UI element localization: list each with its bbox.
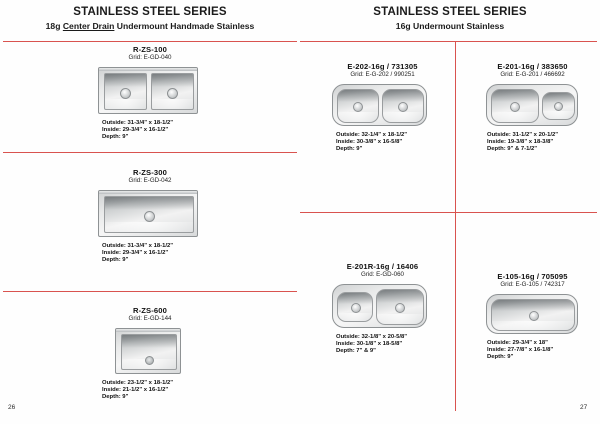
- drain-icon: [145, 356, 154, 365]
- spec-outside: Outside: 31-3/4" x 18-1/2": [102, 120, 240, 127]
- spec-depth: Depth: 7" & 9": [336, 348, 455, 355]
- sink-rim: [99, 68, 197, 71]
- sink-basin-right: [382, 89, 424, 123]
- product-label-block: R-ZS-600 Grid: E-GD-144: [60, 306, 240, 323]
- spec-outside: Outside: 23-1/2" x 18-1/2": [102, 380, 240, 387]
- spec-outside: Outside: 29-3/4" x 18": [487, 340, 600, 347]
- drain-icon: [529, 311, 539, 321]
- sink-double-bowl-round: [332, 84, 427, 126]
- product-name: R-ZS-600: [60, 306, 240, 315]
- product-grid-code: Grid: E-G-202 / 990251: [310, 71, 455, 79]
- product-grid-code: Grid: E-G-105 / 742317: [465, 281, 600, 289]
- product-image: [486, 84, 600, 126]
- product-image: [98, 190, 240, 237]
- product-label-block: E-201-16g / 383650 Grid: E-G-201 / 46669…: [465, 62, 600, 79]
- sink-double-bowl-square: [98, 67, 198, 114]
- drain-icon: [395, 303, 405, 313]
- product-card-r-zs-100[interactable]: R-ZS-100 Grid: E-GD-040 Outside: 31-3/4"…: [60, 45, 240, 142]
- product-image: [98, 67, 240, 114]
- product-grid-code: Grid: E-GD-042: [60, 177, 240, 185]
- left-divider-2: [3, 291, 297, 292]
- right-series-subtitle: 16g Undermount Stainless: [300, 20, 600, 32]
- catalog-page-spread: STAINLESS STEEL SERIES 18g Center Drain …: [0, 0, 600, 424]
- product-grid-code: Grid: E-G-201 / 466692: [465, 71, 600, 79]
- product-label-block: E-202-16g / 731305 Grid: E-G-202 / 99025…: [310, 62, 455, 79]
- left-series-subtitle-suffix: Undermount Handmade Stainless: [114, 21, 254, 31]
- left-series-subtitle-underlined: Center Drain: [63, 21, 115, 31]
- product-specs: Outside: 29-3/4" x 18" Inside: 27-7/8" x…: [487, 340, 600, 362]
- left-page-header: STAINLESS STEEL SERIES 18g Center Drain …: [0, 6, 300, 32]
- product-card-e-201-16g[interactable]: E-201-16g / 383650 Grid: E-G-201 / 46669…: [465, 62, 600, 154]
- product-grid-code: Grid: E-GD-040: [60, 54, 240, 62]
- spec-depth: Depth: 9": [487, 354, 600, 361]
- sink-basin-single: [121, 334, 177, 370]
- product-name: E-202-16g / 731305: [310, 62, 455, 71]
- drain-icon: [554, 102, 563, 111]
- spec-inside: Inside: 27-7/8" x 16-1/8": [487, 347, 600, 354]
- sink-basin-large: [376, 289, 424, 325]
- product-grid-code: Grid: E-GD-144: [60, 315, 240, 323]
- sink-basin-large: [491, 89, 539, 123]
- product-card-e-202-16g[interactable]: E-202-16g / 731305 Grid: E-G-202 / 99025…: [310, 62, 455, 154]
- product-specs: Outside: 31-3/4" x 18-1/2" Inside: 29-3/…: [102, 243, 240, 265]
- drain-icon: [353, 102, 363, 112]
- product-specs: Outside: 23-1/2" x 18-1/2" Inside: 21-1/…: [102, 380, 240, 402]
- product-label-block: R-ZS-100 Grid: E-GD-040: [60, 45, 240, 62]
- sink-single-bowl-round: [486, 294, 578, 334]
- sink-basin-small: [337, 292, 373, 322]
- sink-double-bowl-reverse: [332, 284, 427, 328]
- left-divider-1: [3, 152, 297, 153]
- spec-inside: Inside: 19-3/8" x 18-3/8": [487, 139, 600, 146]
- sink-rim: [116, 329, 180, 332]
- drain-icon: [351, 303, 361, 313]
- product-specs: Outside: 31-3/4" x 18-1/2" Inside: 29-3/…: [102, 120, 240, 142]
- spec-outside: Outside: 32-1/4" x 18-1/2": [336, 132, 455, 139]
- product-card-e-105-16g[interactable]: E-105-16g / 705095 Grid: E-G-105 / 74231…: [465, 272, 600, 362]
- product-name: E-201R-16g / 16406: [310, 262, 455, 271]
- product-label-block: E-201R-16g / 16406 Grid: E-GD-060: [310, 262, 455, 279]
- sink-rim: [99, 191, 197, 194]
- product-name: E-105-16g / 705095: [465, 272, 600, 281]
- left-series-subtitle-prefix: 18g: [46, 21, 63, 31]
- sink-single-bowl-compact: [115, 328, 181, 374]
- product-image: [332, 284, 455, 328]
- drain-icon: [120, 88, 131, 99]
- spec-inside: Inside: 29-3/4" x 16-1/2": [102, 127, 240, 134]
- sink-basin-small: [542, 92, 575, 120]
- product-name: E-201-16g / 383650: [465, 62, 600, 71]
- spec-depth: Depth: 9": [102, 134, 240, 141]
- product-label-block: R-ZS-300 Grid: E-GD-042: [60, 168, 240, 185]
- product-name: R-ZS-300: [60, 168, 240, 177]
- product-grid-code: Grid: E-GD-060: [310, 271, 455, 279]
- page-number-right: 27: [580, 404, 587, 411]
- header-rule-right: [300, 41, 597, 42]
- sink-basin-left: [337, 89, 379, 123]
- spec-depth: Depth: 9": [102, 257, 240, 264]
- spec-outside: Outside: 31-1/2" x 20-1/2": [487, 132, 600, 139]
- right-page-header: STAINLESS STEEL SERIES 16g Undermount St…: [300, 6, 600, 32]
- product-specs: Outside: 32-1/8" x 20-5/8" Inside: 30-1/…: [336, 334, 455, 356]
- left-series-title: STAINLESS STEEL SERIES: [0, 6, 300, 19]
- spec-depth: Depth: 9": [336, 146, 455, 153]
- sink-basin-single: [491, 299, 575, 331]
- right-divider-horizontal: [300, 212, 597, 213]
- product-image: [332, 84, 455, 126]
- drain-icon: [144, 211, 155, 222]
- product-specs: Outside: 31-1/2" x 20-1/2" Inside: 19-3/…: [487, 132, 600, 154]
- drain-icon: [510, 102, 520, 112]
- sink-basin-right: [151, 73, 194, 110]
- product-card-r-zs-300[interactable]: R-ZS-300 Grid: E-GD-042 Outside: 31-3/4"…: [60, 168, 240, 265]
- spec-inside: Inside: 29-3/4" x 16-1/2": [102, 250, 240, 257]
- sink-basin-left: [104, 73, 147, 110]
- sink-double-bowl-offset: [486, 84, 578, 126]
- page-number-left: 26: [8, 404, 15, 411]
- product-card-r-zs-600[interactable]: R-ZS-600 Grid: E-GD-144 Outside: 23-1/2"…: [60, 306, 240, 402]
- spec-outside: Outside: 32-1/8" x 20-5/8": [336, 334, 455, 341]
- product-image: [486, 294, 600, 334]
- drain-icon: [398, 102, 408, 112]
- right-divider-vertical: [455, 41, 456, 411]
- spec-outside: Outside: 31-3/4" x 18-1/2": [102, 243, 240, 250]
- product-label-block: E-105-16g / 705095 Grid: E-G-105 / 74231…: [465, 272, 600, 289]
- right-series-title: STAINLESS STEEL SERIES: [300, 6, 600, 19]
- product-name: R-ZS-100: [60, 45, 240, 54]
- drain-icon: [167, 88, 178, 99]
- left-series-subtitle: 18g Center Drain Undermount Handmade Sta…: [0, 20, 300, 32]
- product-specs: Outside: 32-1/4" x 18-1/2" Inside: 30-3/…: [336, 132, 455, 154]
- spec-inside: Inside: 30-1/8" x 18-5/8": [336, 341, 455, 348]
- spec-depth: Depth: 9": [102, 394, 240, 401]
- spec-depth: Depth: 9" & 7-1/2": [487, 146, 600, 153]
- sink-single-bowl-square: [98, 190, 198, 237]
- header-rule-left: [3, 41, 297, 42]
- product-image: [115, 328, 240, 374]
- spec-inside: Inside: 30-3/8" x 16-5/8": [336, 139, 455, 146]
- product-card-e-201r-16g[interactable]: E-201R-16g / 16406 Grid: E-GD-060 Outsid…: [310, 262, 455, 356]
- sink-basin-single: [104, 196, 194, 233]
- spec-inside: Inside: 21-1/2" x 16-1/2": [102, 387, 240, 394]
